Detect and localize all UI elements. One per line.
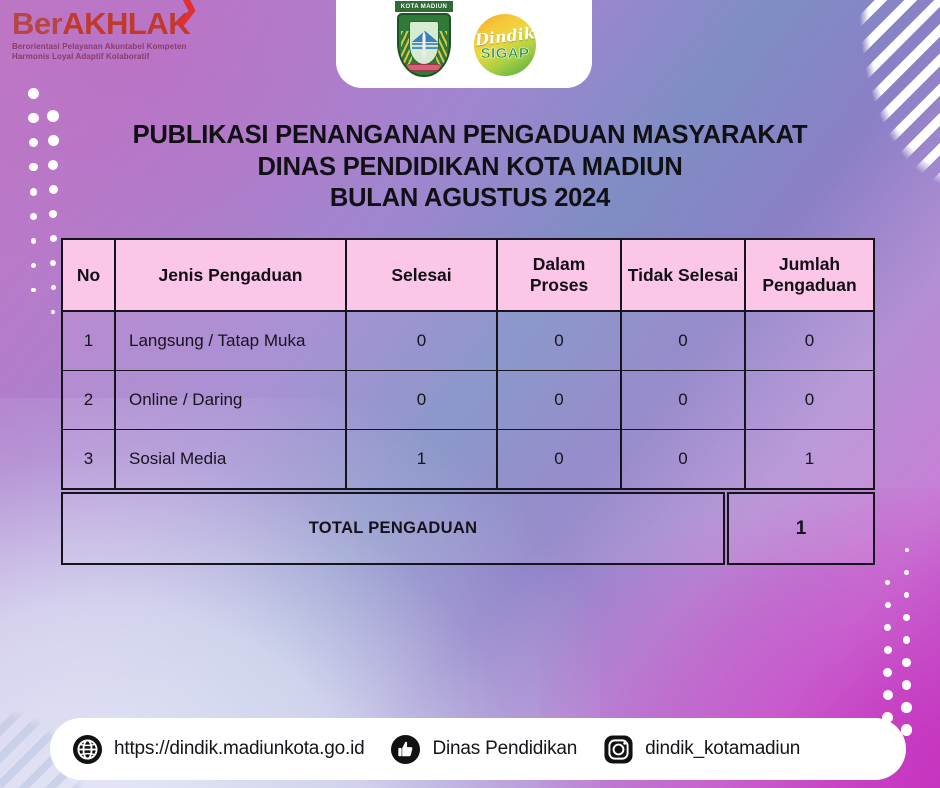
cell-selesai: 0 [346,371,497,430]
cell-dalam-proses: 0 [497,371,621,430]
crest-keris-icon [423,31,426,67]
kota-madiun-crest-icon: KOTA MADIUN [392,1,456,79]
decorative-dot [902,680,912,690]
cell-dalam-proses: 0 [497,312,621,371]
decorative-dot [50,260,56,266]
decorative-dot [885,580,890,585]
total-value: 1 [727,492,875,565]
pengaduan-table-container: No Jenis Pengaduan Selesai Dalam Proses … [61,238,875,565]
berakhlak-prefix: Ber [12,6,62,41]
berakhlak-wordmark: BerAKHLAK ❯ [12,8,192,39]
cell-jumlah: 1 [745,430,875,490]
crest-banner-text: KOTA MADIUN [395,1,453,12]
decorative-dot [51,285,56,290]
berakhlak-main: AKHLAK [62,6,190,41]
cell-jumlah: 0 [745,371,875,430]
column-header-no: No [61,238,115,312]
decorative-dot [883,668,892,677]
decorative-dot [31,238,37,244]
decorative-dot [901,702,912,713]
decorative-dot [884,646,892,654]
decorative-dot [904,570,909,575]
table-row: 3 Sosial Media 1 0 0 1 [61,430,875,490]
footer-instagram[interactable]: dindik_kotamadiun [603,734,800,765]
instagram-icon [603,734,634,765]
cell-no: 1 [61,312,115,371]
column-header-tidak-selesai: Tidak Selesai [621,238,745,312]
berakhlak-tagline-line1: Berorientasi Pelayanan Akuntabel Kompete… [12,42,192,52]
table-body: 1 Langsung / Tatap Muka 0 0 0 0 2 Online… [61,312,875,490]
dindik-sigap-logo: Dindik SIGAP [474,14,536,76]
thumbs-up-icon [390,734,421,765]
column-header-dalam-proses: Dalam Proses [497,238,621,312]
cell-jumlah: 0 [745,312,875,371]
column-header-jenis: Jenis Pengaduan [115,238,346,312]
cell-no: 3 [61,430,115,490]
total-label: TOTAL PENGADUAN [61,492,725,565]
table-row: 2 Online / Daring 0 0 0 0 [61,371,875,430]
crest-shield [397,13,451,77]
header-logo-card: KOTA MADIUN Dindik SIGAP [336,0,592,88]
decorative-dot [905,548,909,552]
cell-tidak-selesai: 0 [621,371,745,430]
cell-dalam-proses: 0 [497,430,621,490]
cell-jenis: Online / Daring [115,371,346,430]
decorative-dot [883,690,893,700]
berakhlak-logo: BerAKHLAK ❯ Berorientasi Pelayanan Akunt… [12,8,192,62]
decorative-dot [31,288,35,292]
decorative-dot [904,592,910,598]
total-row: TOTAL PENGADUAN 1 [61,492,875,565]
footer-facebook[interactable]: Dinas Pendidikan [390,734,577,765]
title-line-1: PUBLIKASI PENANGANAN PENGADUAN MASYARAKA… [0,120,940,152]
cell-jenis: Sosial Media [115,430,346,490]
crest-ribbon [407,64,441,71]
table-row: 1 Langsung / Tatap Muka 0 0 0 0 [61,312,875,371]
cell-no: 2 [61,371,115,430]
decorative-dot [903,614,910,621]
title-line-2: DINAS PENDIDIKAN KOTA MADIUN [0,152,940,184]
column-header-selesai: Selesai [346,238,497,312]
decorative-dots-right [878,548,934,748]
decorative-dot [885,602,891,608]
cell-tidak-selesai: 0 [621,430,745,490]
poster-canvas: BerAKHLAK ❯ Berorientasi Pelayanan Akunt… [0,0,940,788]
sigap-bold-text: SIGAP [481,46,530,61]
page-title: PUBLIKASI PENANGANAN PENGADUAN MASYARAKA… [0,120,940,215]
decorative-dot [50,235,57,242]
decorative-dot [31,263,36,268]
decorative-dot [884,624,891,631]
berakhlak-swoosh-icon: ❯ [174,0,197,19]
cell-tidak-selesai: 0 [621,312,745,371]
table-header-row: No Jenis Pengaduan Selesai Dalam Proses … [61,238,875,312]
decorative-dot [28,88,39,99]
footer-facebook-label: Dinas Pendidikan [432,738,577,760]
cell-selesai: 0 [346,312,497,371]
cell-selesai: 1 [346,430,497,490]
decorative-dot [902,658,911,667]
footer-website[interactable]: https://dindik.madiunkota.go.id [72,734,364,765]
decorative-dot [903,636,911,644]
table-head: No Jenis Pengaduan Selesai Dalam Proses … [61,238,875,312]
footer-website-label: https://dindik.madiunkota.go.id [114,738,364,760]
pengaduan-table: No Jenis Pengaduan Selesai Dalam Proses … [61,238,875,490]
decorative-dot [51,310,55,314]
berakhlak-tagline-line2: Harmonis Loyal Adaptif Kolaboratif [12,52,192,62]
footer-bar: https://dindik.madiunkota.go.id Dinas Pe… [50,718,906,780]
title-line-3: BULAN AGUSTUS 2024 [0,183,940,215]
column-header-jumlah: Jumlah Pengaduan [745,238,875,312]
berakhlak-tagline: Berorientasi Pelayanan Akuntabel Kompete… [12,42,192,62]
footer-instagram-label: dindik_kotamadiun [645,738,800,760]
cell-jenis: Langsung / Tatap Muka [115,312,346,371]
globe-icon [72,734,103,765]
